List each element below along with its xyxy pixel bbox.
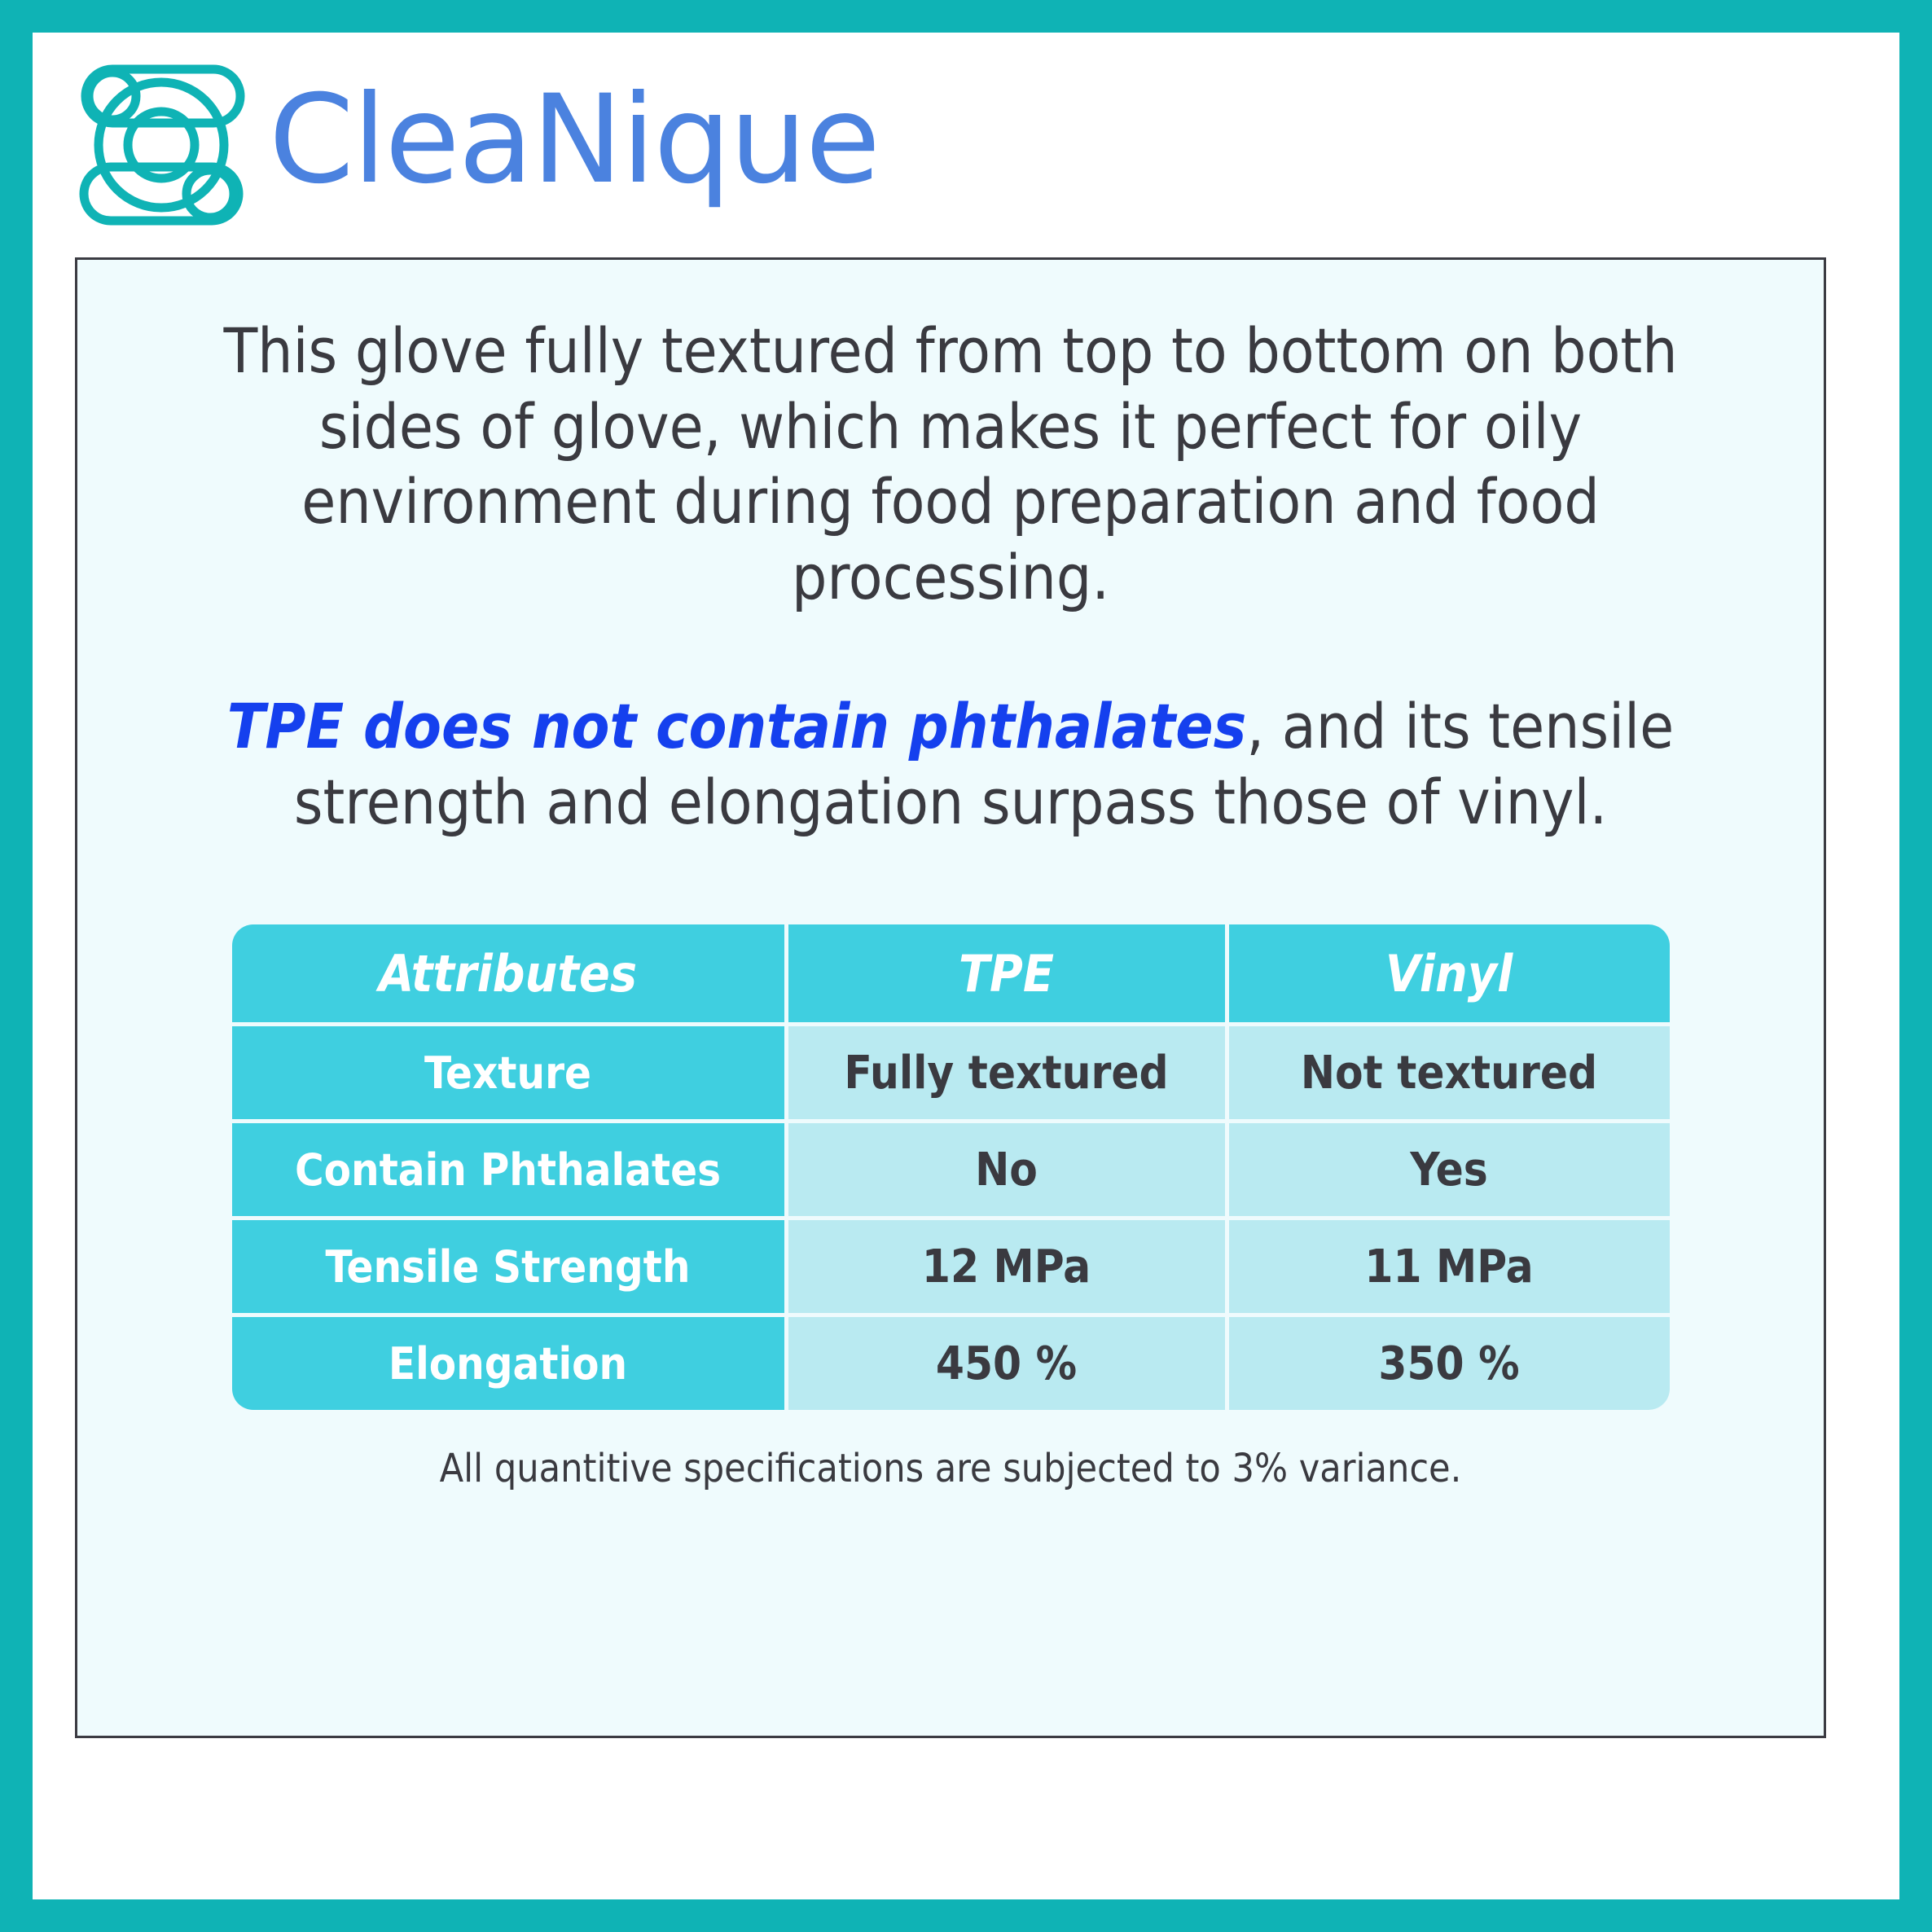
poster-frame: CleaNique This glove fully textured from… xyxy=(0,0,1932,1932)
poster-inner: CleaNique This glove fully textured from… xyxy=(33,33,1899,1899)
column-header-tpe: TPE xyxy=(788,924,1229,1022)
table-row: Contain Phthalates No Yes xyxy=(232,1119,1670,1216)
phthalates-highlight: TPE does not contain phthalates xyxy=(227,690,1247,762)
cleanique-knot-logo-icon xyxy=(77,61,252,228)
row-label-tensile-strength: Tensile Strength xyxy=(232,1216,788,1313)
variance-footnote: All quantitive specifications are subjec… xyxy=(77,1410,1824,1491)
cell-tpe-elongation: 450 % xyxy=(788,1313,1229,1410)
content-card: This glove fully textured from top to bo… xyxy=(75,257,1826,1738)
column-header-vinyl: Vinyl xyxy=(1229,924,1670,1022)
row-label-elongation: Elongation xyxy=(232,1313,788,1410)
cell-vinyl-phthalates: Yes xyxy=(1229,1119,1670,1216)
description-paragraph-2: TPE does not contain phthalates, and its… xyxy=(77,616,1824,840)
column-header-attributes: Attributes xyxy=(232,924,788,1022)
spec-comparison-table: Attributes TPE Vinyl Texture Fully textu… xyxy=(232,924,1670,1410)
cell-tpe-tensile: 12 MPa xyxy=(788,1216,1229,1313)
spec-table-head: Attributes TPE Vinyl xyxy=(232,924,1670,1022)
description-paragraph-1: This glove fully textured from top to bo… xyxy=(77,260,1824,616)
cell-vinyl-tensile: 11 MPa xyxy=(1229,1216,1670,1313)
cell-vinyl-elongation: 350 % xyxy=(1229,1313,1670,1410)
table-row: Tensile Strength 12 MPa 11 MPa xyxy=(232,1216,1670,1313)
row-label-contain-phthalates: Contain Phthalates xyxy=(232,1119,788,1216)
table-row: Texture Fully textured Not textured xyxy=(232,1022,1670,1119)
brand-wordmark: CleaNique xyxy=(269,79,879,211)
cell-tpe-texture: Fully textured xyxy=(788,1022,1229,1119)
cell-tpe-phthalates: No xyxy=(788,1119,1229,1216)
spec-table-body: Texture Fully textured Not textured Cont… xyxy=(232,1022,1670,1410)
row-label-texture: Texture xyxy=(232,1022,788,1119)
brand-logo[interactable]: CleaNique xyxy=(77,61,879,228)
table-header-row: Attributes TPE Vinyl xyxy=(232,924,1670,1022)
table-row: Elongation 450 % 350 % xyxy=(232,1313,1670,1410)
cell-vinyl-texture: Not textured xyxy=(1229,1022,1670,1119)
spec-table-wrapper: Attributes TPE Vinyl Texture Fully textu… xyxy=(77,840,1824,1410)
